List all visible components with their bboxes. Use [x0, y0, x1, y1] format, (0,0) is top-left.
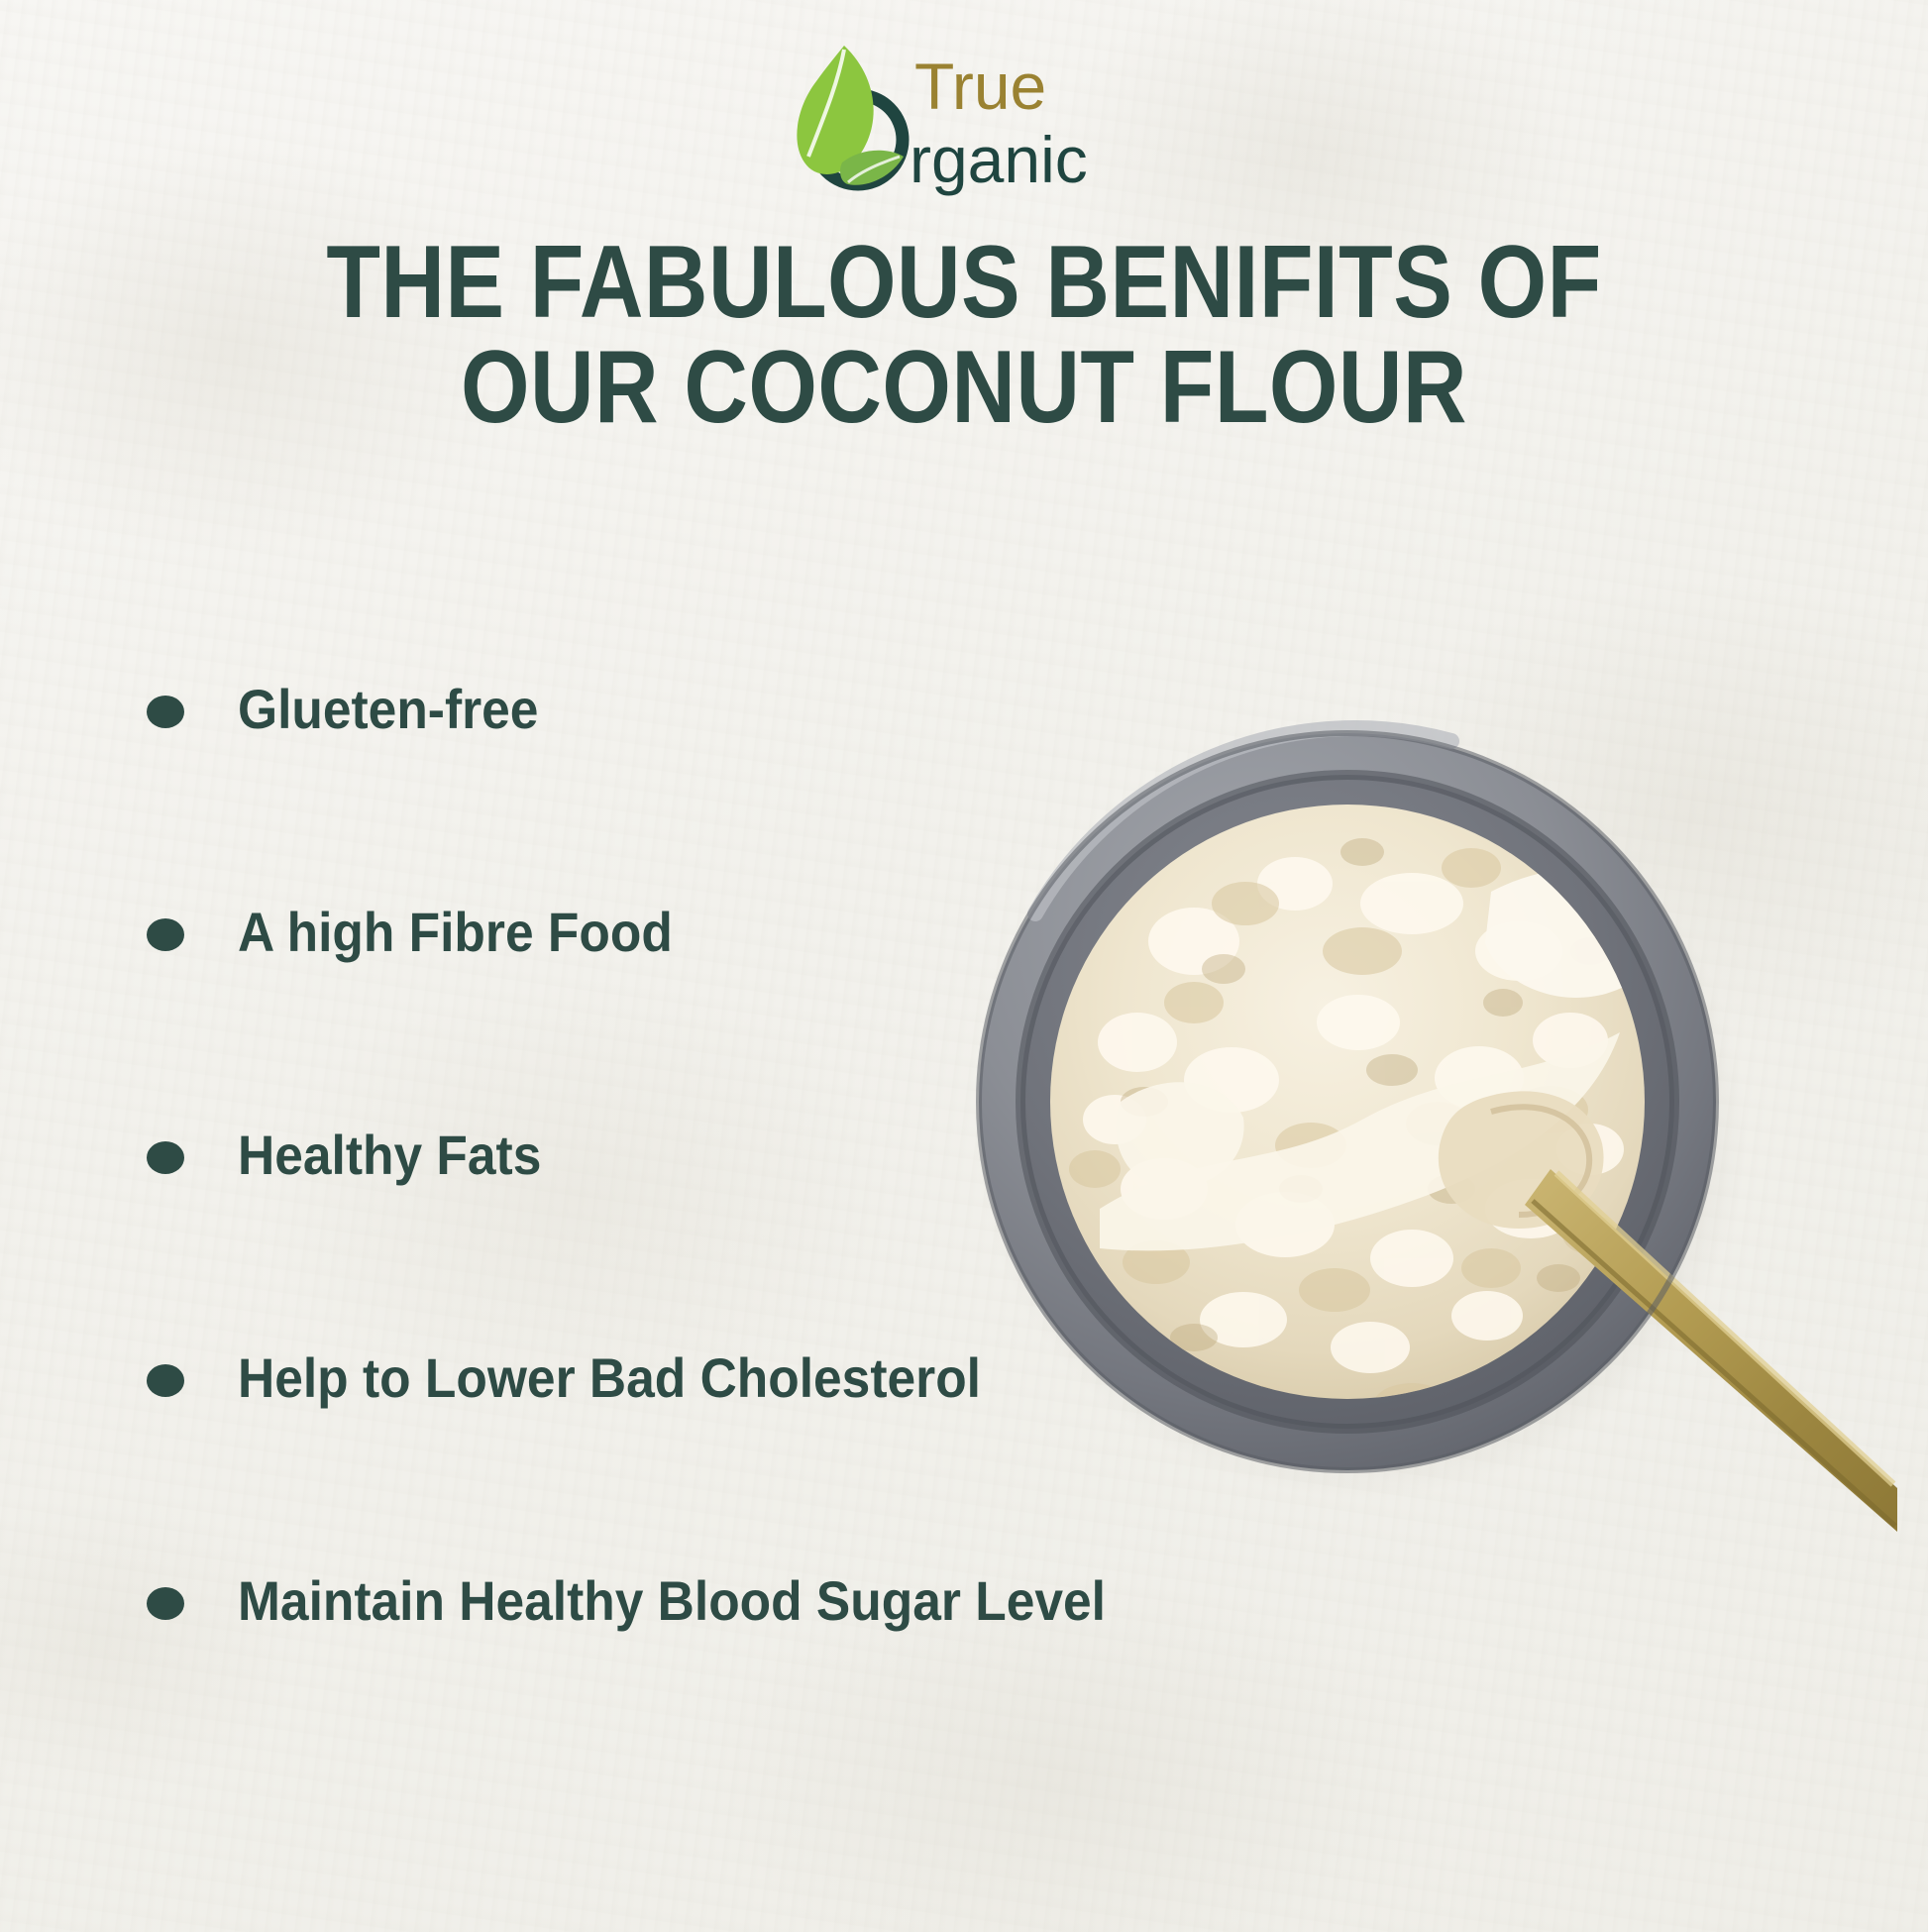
page-title: THE FABULOUS BENIFITS OF OUR COCONUT FLO…: [135, 230, 1793, 440]
coconut-flour-bowl-photo: [897, 654, 1897, 1605]
brand-logo[interactable]: True rganic: [783, 38, 1149, 201]
list-item: Maintain Healthy Blood Sugar Level: [147, 1573, 1078, 1796]
logo-word-organic: rganic: [910, 123, 1088, 196]
filled-circle-bullet-icon: [147, 918, 184, 951]
benefit-label: A high Fibre Food: [238, 905, 673, 960]
filled-circle-bullet-icon: [147, 1587, 184, 1620]
benefit-label: Help to Lower Bad Cholesterol: [238, 1350, 981, 1406]
filled-circle-bullet-icon: [147, 1364, 184, 1397]
poster-canvas: True rganic THE FABULOUS BENIFITS OF OUR…: [0, 0, 1928, 1932]
benefit-label: Healthy Fats: [238, 1127, 541, 1183]
page-title-line-1: THE FABULOUS BENIFITS OF: [135, 230, 1793, 335]
page-title-line-2: OUR COCONUT FLOUR: [135, 335, 1793, 440]
filled-circle-bullet-icon: [147, 696, 184, 728]
filled-circle-bullet-icon: [147, 1141, 184, 1174]
logo-word-true: True: [914, 50, 1046, 123]
benefit-label: Glueten-free: [238, 682, 538, 737]
